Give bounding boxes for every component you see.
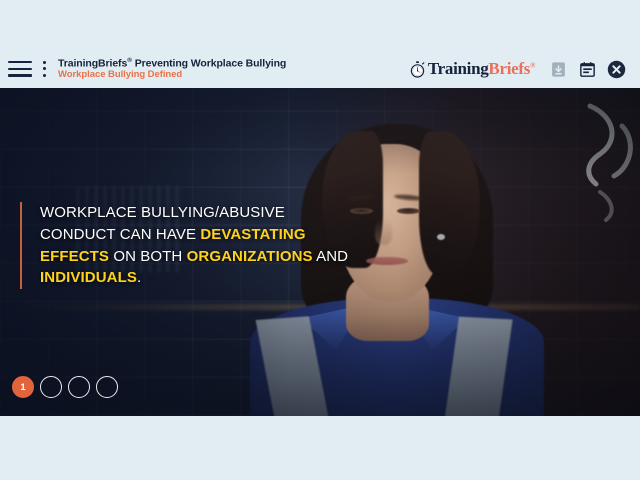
header-left-group: TrainingBriefs® Preventing Workplace Bul…	[8, 57, 286, 81]
subject-hair-front-right	[419, 131, 480, 275]
pagination-dot-2[interactable]: 2	[40, 376, 62, 398]
course-title-brand: TrainingBriefs	[58, 57, 127, 69]
caption-text: WORKPLACE BULLYING/ABUSIVE CONDUCT CAN H…	[40, 202, 350, 289]
header-titles: TrainingBriefs® Preventing Workplace Bul…	[58, 57, 286, 81]
subject-nose	[375, 219, 392, 245]
caption-highlight: INDIVIDUALS	[40, 269, 137, 286]
kebab-dot	[43, 74, 46, 77]
course-title: TrainingBriefs® Preventing Workplace Bul…	[58, 57, 286, 70]
logo-word-training: Training	[428, 59, 489, 78]
video-stage[interactable]: WORKPLACE BULLYING/ABUSIVE CONDUCT CAN H…	[0, 88, 640, 416]
player-header: TrainingBriefs® Preventing Workplace Bul…	[0, 50, 640, 88]
pagination: 1 2 3 4	[12, 376, 118, 398]
notes-button[interactable]	[577, 59, 597, 79]
hamburger-icon[interactable]	[8, 61, 32, 77]
player-app: TrainingBriefs® Preventing Workplace Bul…	[0, 0, 640, 480]
pagination-dot-1[interactable]: 1	[12, 376, 34, 398]
hamburger-line	[8, 68, 32, 71]
pagination-dot-3[interactable]: 3	[68, 376, 90, 398]
kebab-dot	[43, 61, 46, 64]
caption-segment: .	[137, 269, 141, 286]
logo-registered-mark: ®	[530, 61, 535, 69]
hamburger-line	[8, 61, 32, 64]
logo-wordmark: TrainingBriefs®	[428, 59, 535, 79]
close-circle-icon	[607, 60, 626, 79]
kebab-dot	[43, 67, 46, 70]
lesson-title: Workplace Bullying Defined	[58, 70, 286, 81]
caption-highlight: ORGANIZATIONS	[187, 248, 313, 265]
caption-segment: AND	[313, 248, 348, 265]
subject-lips	[366, 257, 408, 265]
caption-segment: ON BOTH	[109, 248, 187, 265]
logo-word-briefs: Briefs	[488, 59, 530, 78]
trainingbriefs-logo: TrainingBriefs®	[409, 59, 535, 79]
course-title-rest: Preventing Workplace Bullying	[132, 57, 286, 69]
download-button[interactable]	[548, 59, 568, 79]
notes-icon	[579, 61, 596, 78]
header-right-group: TrainingBriefs®	[409, 59, 626, 79]
pagination-dot-4[interactable]: 4	[96, 376, 118, 398]
caption-overlay: WORKPLACE BULLYING/ABUSIVE CONDUCT CAN H…	[20, 202, 350, 289]
stopwatch-icon	[409, 61, 426, 78]
close-button[interactable]	[606, 59, 626, 79]
download-icon	[550, 61, 567, 78]
more-vertical-icon[interactable]	[39, 61, 49, 77]
hamburger-line	[8, 74, 32, 77]
